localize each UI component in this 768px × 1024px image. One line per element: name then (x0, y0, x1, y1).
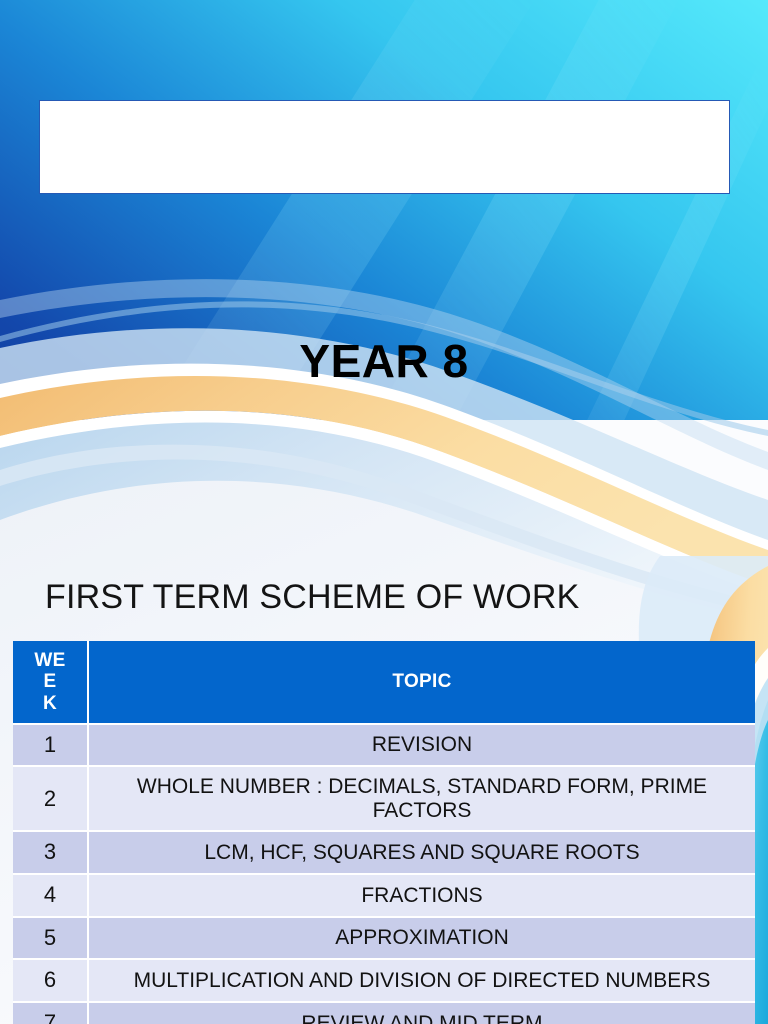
cell-week: 4 (13, 875, 89, 918)
title-placeholder-box[interactable] (39, 100, 730, 194)
column-header-week-line2: K (43, 693, 57, 714)
column-header-topic: TOPIC (89, 641, 755, 725)
table-row: 4FRACTIONS (13, 875, 755, 918)
table-row: 2WHOLE NUMBER : DECIMALS, STANDARD FORM,… (13, 767, 755, 832)
table-header: WEE K TOPIC (13, 641, 755, 725)
scheme-of-work-heading: FIRST TERM SCHEME OF WORK (45, 578, 725, 617)
cell-week: 3 (13, 832, 89, 875)
cell-week: 2 (13, 767, 89, 832)
column-header-week-line1: WEE (34, 650, 65, 692)
table-row: 1REVISION (13, 725, 755, 768)
cell-week: 7 (13, 1003, 89, 1024)
table-row: 6MULTIPLICATION AND DIVISION OF DIRECTED… (13, 960, 755, 1003)
scheme-of-work-table: WEE K TOPIC 1REVISION2WHOLE NUMBER : DEC… (13, 641, 755, 1024)
cell-week: 1 (13, 725, 89, 768)
column-header-week: WEE K (13, 641, 89, 725)
cell-week: 6 (13, 960, 89, 1003)
cell-topic: MULTIPLICATION AND DIVISION OF DIRECTED … (89, 960, 755, 1003)
table-header-row: WEE K TOPIC (13, 641, 755, 725)
cell-topic: APPROXIMATION (89, 918, 755, 961)
cell-topic: REVIEW AND MID TERM (89, 1003, 755, 1024)
table-row: 5APPROXIMATION (13, 918, 755, 961)
cell-topic: REVISION (89, 725, 755, 768)
table-row: 3LCM, HCF, SQUARES AND SQUARE ROOTS (13, 832, 755, 875)
presentation-slide: YEAR 8 FIRST TERM SCHEME OF WORK WEE K T… (0, 0, 768, 1024)
cell-week: 5 (13, 918, 89, 961)
cell-topic: FRACTIONS (89, 875, 755, 918)
cell-topic: LCM, HCF, SQUARES AND SQUARE ROOTS (89, 832, 755, 875)
table-body: 1REVISION2WHOLE NUMBER : DECIMALS, STAND… (13, 725, 755, 1024)
page-title: YEAR 8 (0, 337, 768, 387)
cell-topic: WHOLE NUMBER : DECIMALS, STANDARD FORM, … (89, 767, 755, 832)
table-row: 7REVIEW AND MID TERM (13, 1003, 755, 1024)
